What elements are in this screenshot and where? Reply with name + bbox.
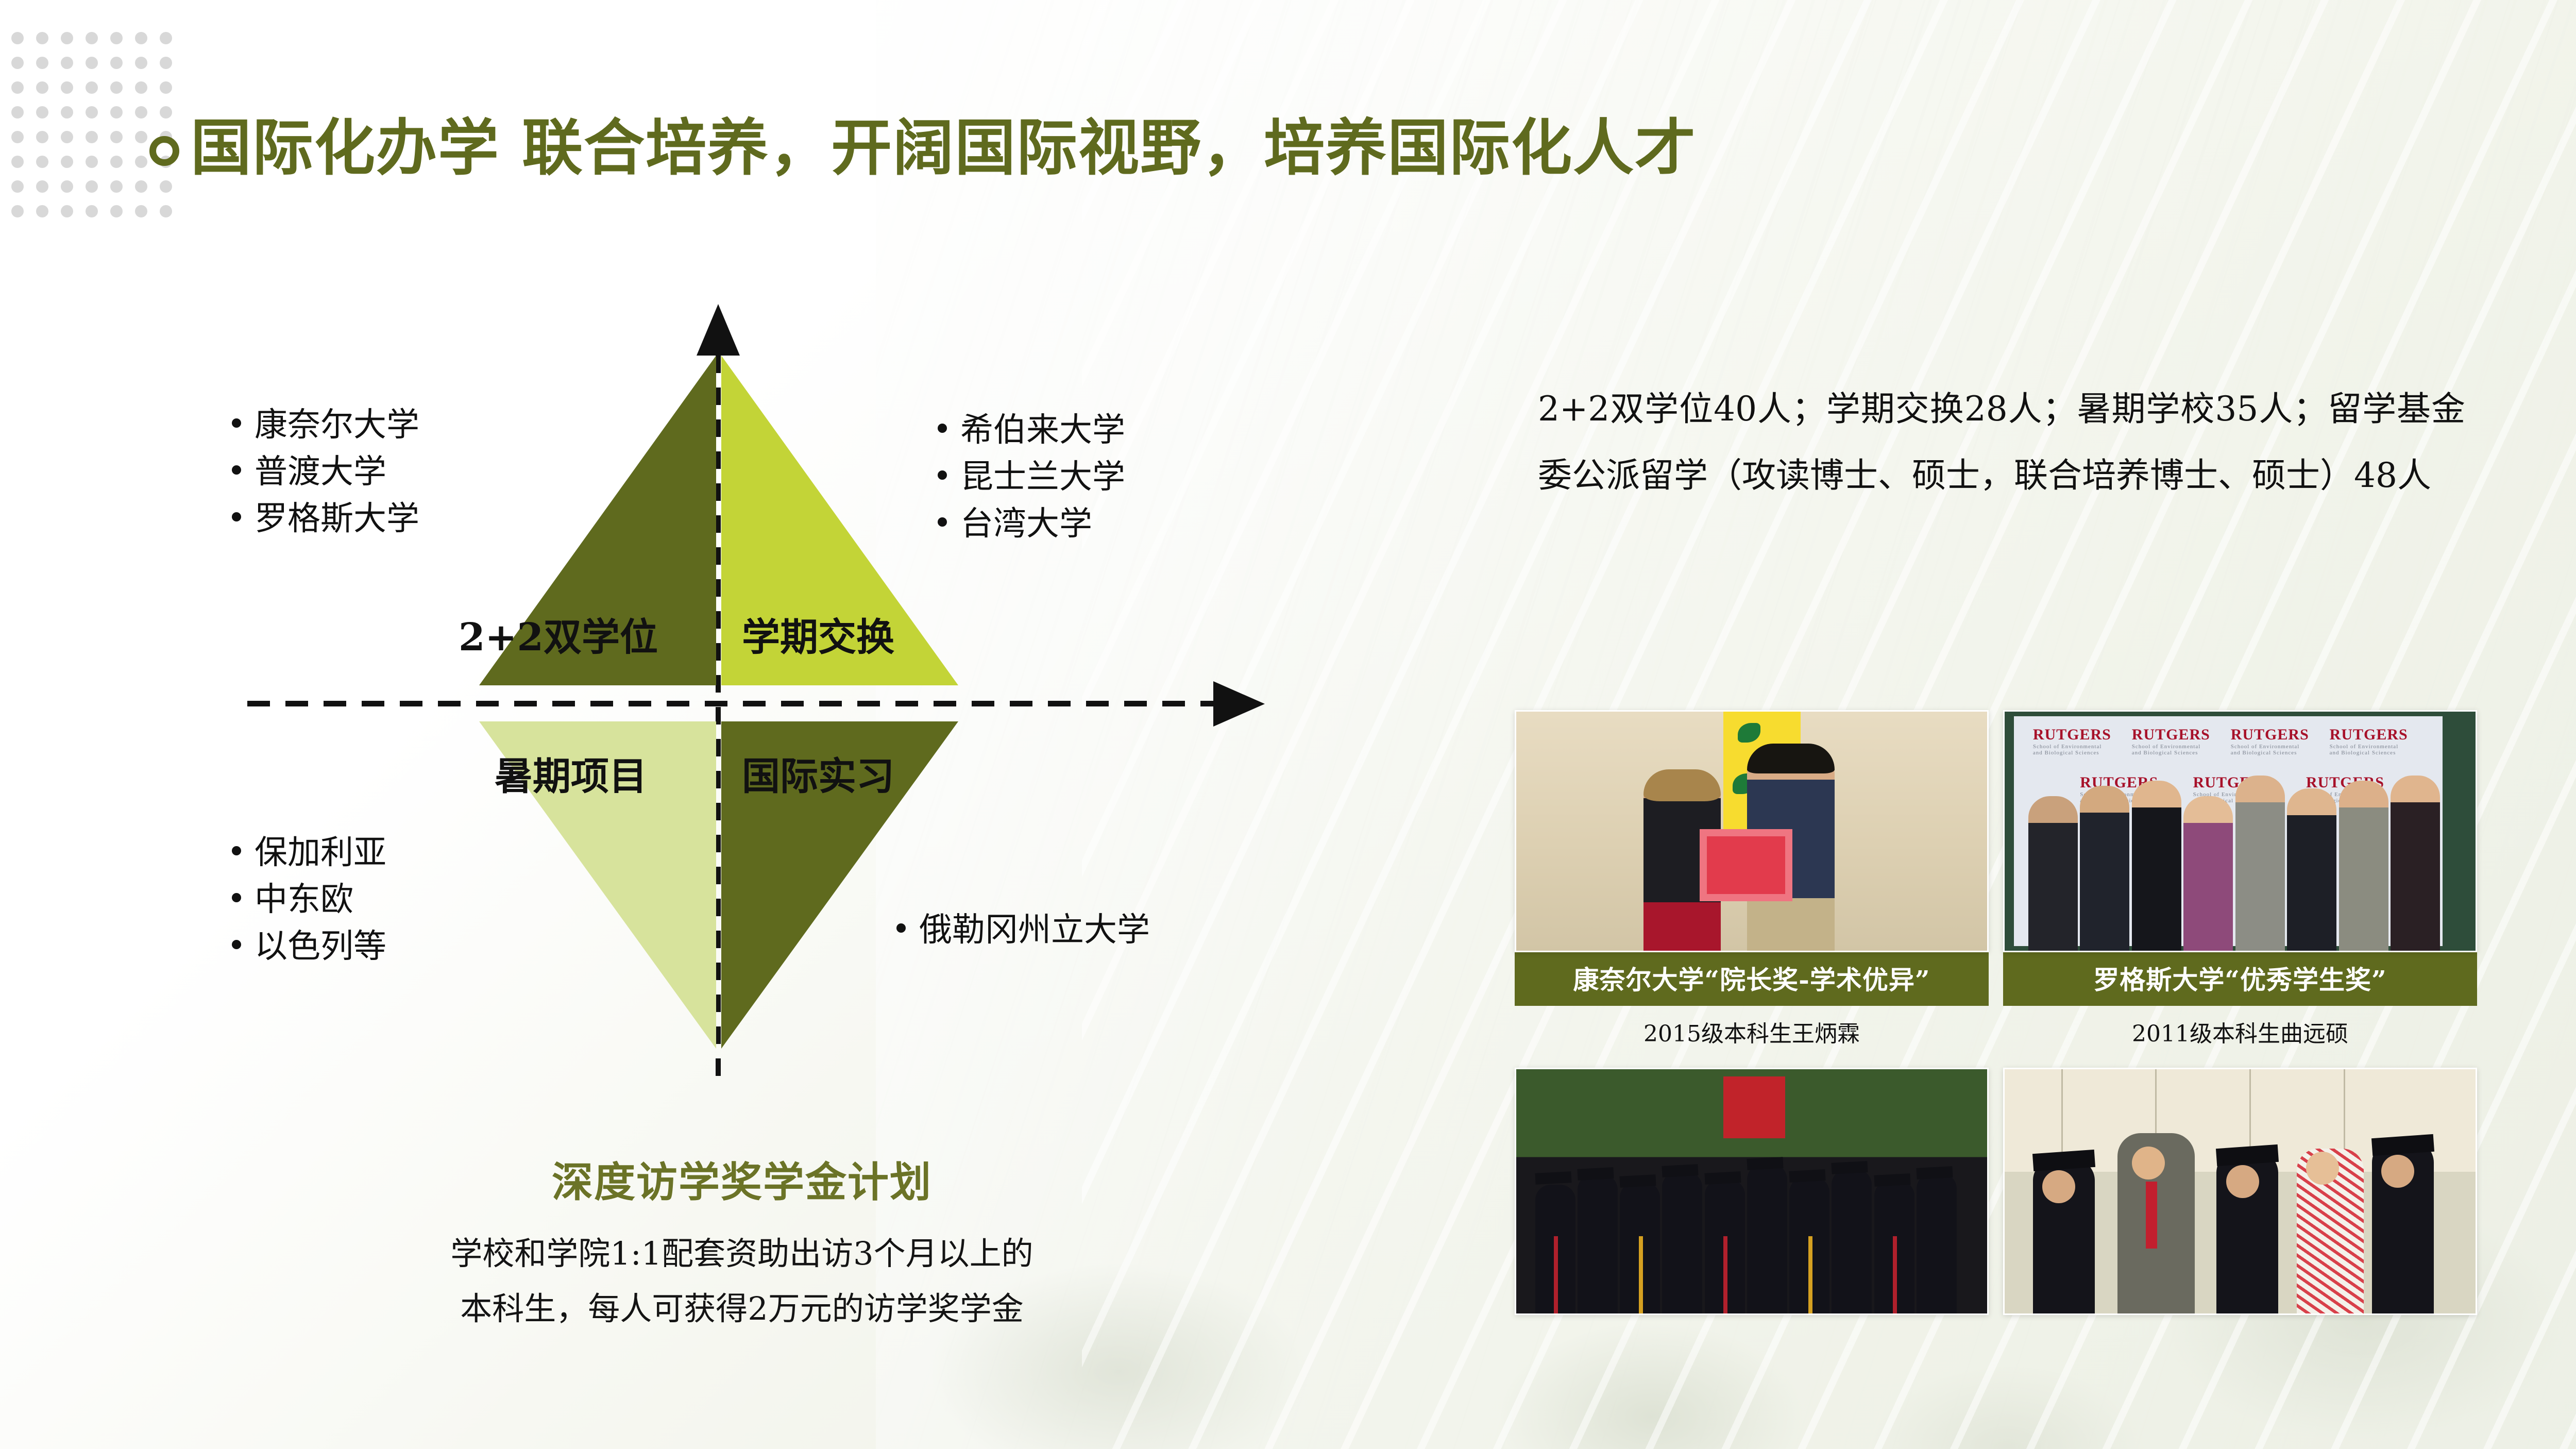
attendee-figure: [2287, 788, 2336, 951]
horizontal-axis: [247, 701, 1221, 706]
stage-screen: [1723, 1076, 1785, 1138]
face: [2226, 1165, 2259, 1198]
list-item: 普渡大学: [232, 449, 419, 496]
face: [2381, 1155, 2414, 1188]
honor-cord: [1808, 1236, 1812, 1313]
list-item: 以色列等: [232, 923, 386, 970]
list-item-label: 台湾大学: [960, 501, 1092, 548]
photo-subcaption: 2011级本科生曲远硕: [2003, 1006, 2477, 1048]
vertical-axis: [716, 356, 721, 1082]
award-ceremony-photo: [1515, 710, 1989, 952]
student-hair: [1747, 744, 1835, 773]
quadrant-label-top-right: 学期交换: [742, 618, 894, 656]
list-item: 台湾大学: [938, 501, 1125, 548]
list-item-label: 昆士兰大学: [960, 454, 1125, 501]
mortarboard-icon: [1832, 1161, 1868, 1174]
list-item-label: 以色列等: [255, 923, 386, 970]
list-item: 昆士兰大学: [938, 454, 1125, 501]
university-list-bottom-right: 俄勒冈州立大学: [896, 907, 1150, 954]
photo-card-rutgers[interactable]: RUTGERSSchool of Environmentaland Biolog…: [2003, 710, 2477, 1048]
scholarship-line-1: 学校和学院1:1配套资助出访3个月以上的: [330, 1226, 1154, 1282]
photo-caption-bar: 康奈尔大学“院长奖-学术优异”: [1515, 952, 1989, 1006]
graduate-figure: [1662, 1172, 1702, 1313]
graduate-figure: [1917, 1173, 1957, 1313]
attendee-figure: [2235, 776, 2285, 951]
photo-card-tent[interactable]: [2003, 1068, 2477, 1315]
honor-cord: [1639, 1236, 1643, 1313]
list-item: 希伯来大学: [938, 407, 1125, 454]
slide-canvas: 国际化办学 联合培养，开阔国际视野，培养国际化人才 2+2双学位 学期交换 暑期…: [0, 0, 2576, 1449]
list-item: 罗格斯大学: [232, 496, 419, 543]
list-item-label: 希伯来大学: [960, 407, 1125, 454]
photo-row-bottom: [1515, 1068, 2545, 1315]
face: [2306, 1152, 2339, 1185]
mortarboard-icon: [1620, 1174, 1656, 1188]
attendee-figure: [2339, 781, 2388, 951]
list-item-label: 罗格斯大学: [255, 496, 419, 543]
photo-gallery: 康奈尔大学“院长奖-学术优异” 2015级本科生王炳霖 RUTGERSSchoo…: [1515, 710, 2545, 1315]
list-item: 俄勒冈州立大学: [896, 907, 1150, 954]
photo-card-award[interactable]: 康奈尔大学“院长奖-学术优异” 2015级本科生王炳霖: [1515, 710, 1989, 1048]
face: [2042, 1170, 2075, 1203]
graduate-figure: [1747, 1164, 1787, 1313]
certificate-folder: [1700, 829, 1792, 901]
attendee-figure: [2183, 796, 2233, 951]
list-item-label: 中东欧: [255, 877, 353, 923]
scholarship-block: 深度访学奖学金计划 学校和学院1:1配套资助出访3个月以上的 本科生，每人可获得…: [330, 1149, 1154, 1336]
quadrant-label-bottom-left: 暑期项目: [495, 757, 647, 796]
tent-graduates-photo: [2003, 1068, 2477, 1315]
mortarboard-icon: [1874, 1173, 1910, 1187]
honor-cord: [1554, 1236, 1558, 1313]
scholarship-title: 深度访学奖学金计划: [330, 1149, 1154, 1209]
photo-caption-bar: 罗格斯大学“优秀学生奖”: [2003, 952, 2477, 1006]
university-list-top-right: 希伯来大学 昆士兰大学 台湾大学: [938, 407, 1125, 548]
list-item: 康奈尔大学: [232, 402, 419, 449]
attendee-figure: [2391, 776, 2440, 951]
list-item-label: 普渡大学: [255, 449, 386, 496]
mortarboard-icon: [1577, 1167, 1614, 1181]
photo-subcaption: 2015级本科生王炳霖: [1515, 1006, 1989, 1048]
photo-row-top: 康奈尔大学“院长奖-学术优异” 2015级本科生王炳霖 RUTGERSSchoo…: [1515, 710, 2545, 1048]
region-list-bottom-left: 保加利亚 中东欧 以色列等: [232, 830, 386, 970]
attendee-figure: [2028, 796, 2078, 951]
quadrant-label-bottom-right: 国际实习: [742, 757, 894, 796]
commencement-crowd-photo: [1515, 1068, 1989, 1315]
photo-card-commencement[interactable]: [1515, 1068, 1989, 1315]
rutgers-logo: RUTGERSSchool of Environmentaland Biolog…: [2132, 726, 2210, 756]
presenter-hair: [1643, 769, 1721, 801]
mortarboard-icon: [1662, 1164, 1699, 1177]
statistics-paragraph: 2+2双学位40人；学期交换28人；暑期学校35人；留学基金委公派留学（攻读博士…: [1538, 376, 2465, 509]
quadrant-diagram: 2+2双学位 学期交换 暑期项目 国际实习 康奈尔大学 普渡大学 罗格斯大学 希…: [0, 0, 1340, 1159]
mortarboard-icon: [1916, 1166, 1953, 1180]
honor-cord: [1893, 1236, 1897, 1313]
rutgers-logo: RUTGERSSchool of Environmentaland Biolog…: [2330, 726, 2408, 756]
rutgers-logo: RUTGERSSchool of Environmentaland Biolog…: [2231, 726, 2309, 756]
rutgers-group-photo: RUTGERSSchool of Environmentaland Biolog…: [2003, 710, 2477, 952]
mortarboard-icon: [1789, 1169, 1826, 1183]
list-item-label: 俄勒冈州立大学: [919, 907, 1150, 954]
quadrant-label-top-left: 2+2双学位: [459, 618, 658, 656]
scholarship-line-2: 本科生，每人可获得2万元的访学奖学金: [330, 1282, 1154, 1337]
list-item: 中东欧: [232, 877, 386, 923]
list-item-label: 保加利亚: [255, 830, 386, 877]
necktie: [2146, 1182, 2157, 1249]
mortarboard-icon: [1704, 1171, 1741, 1185]
vertical-axis-arrow-icon: [697, 304, 740, 356]
honor-cord: [1723, 1236, 1727, 1313]
mortarboard-icon: [1747, 1157, 1783, 1170]
list-item-label: 康奈尔大学: [255, 402, 419, 449]
list-item: 保加利亚: [232, 830, 386, 877]
attendee-figure: [2132, 781, 2181, 951]
rutgers-logo: RUTGERSSchool of Environmentaland Biolog…: [2033, 726, 2111, 756]
graduate-figure: [1832, 1169, 1872, 1313]
graduate-figure: [1578, 1174, 1618, 1313]
face: [2132, 1147, 2165, 1180]
horizontal-axis-arrow-icon: [1213, 681, 1265, 727]
university-list-top-left: 康奈尔大学 普渡大学 罗格斯大学: [232, 402, 419, 543]
mortarboard-icon: [1535, 1171, 1571, 1185]
attendee-figure: [2080, 786, 2129, 951]
